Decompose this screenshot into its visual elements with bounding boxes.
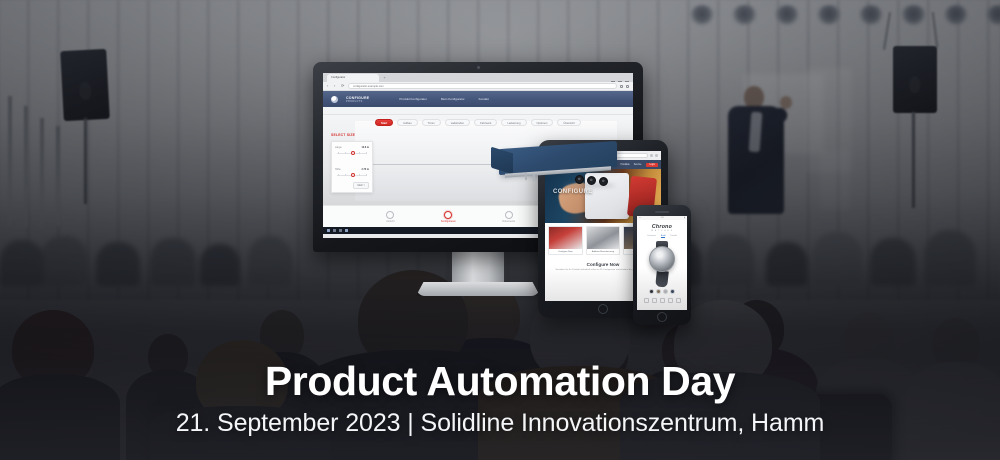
browser-icon[interactable] xyxy=(345,229,348,232)
toolbar-action-ansicht[interactable]: Ansicht xyxy=(386,211,394,223)
save-icon[interactable] xyxy=(668,298,673,303)
slider-handle[interactable] xyxy=(351,173,355,177)
slider-tick xyxy=(366,152,367,154)
color-swatch[interactable] xyxy=(670,289,675,294)
nav-item[interactable]: Service xyxy=(634,164,642,166)
search-icon[interactable] xyxy=(333,229,336,232)
step-tab-aufbau[interactable]: Aufbau xyxy=(397,119,418,126)
step-tab-tueren[interactable]: Türen xyxy=(422,119,441,126)
tab-overview[interactable]: Overview xyxy=(647,235,656,238)
card-image xyxy=(587,227,620,249)
step-tab-ladeboden[interactable]: Ladeboden xyxy=(445,119,470,126)
forward-arrow-icon[interactable]: › xyxy=(334,84,338,88)
tab-build[interactable]: Build xyxy=(661,235,666,238)
phone-screen: ••• 9:41 ▮ Chrono W A T C H E S Overview… xyxy=(637,216,687,310)
brand-logo-text: CONFIGURE PRODUCTS xyxy=(346,96,369,103)
new-tab-button[interactable]: + xyxy=(381,74,388,82)
banner-caption: Product Automation Day 21. September 202… xyxy=(0,357,1000,438)
brand-logo-icon xyxy=(331,96,338,103)
webcam-icon xyxy=(477,66,480,69)
configurator-model-label: SELECT SIZE xyxy=(331,133,355,137)
site-nav: Produkt Konfigurator Mein Konfigurator K… xyxy=(399,97,488,101)
step-tab-start[interactable]: Start xyxy=(375,119,393,126)
card-caption: Additive Manufacturing xyxy=(587,249,620,254)
zoom-icon[interactable] xyxy=(652,298,657,303)
option-value: 13.6 m xyxy=(362,146,369,149)
tab-details[interactable]: Details xyxy=(670,235,676,238)
monitor-stand-neck xyxy=(452,250,504,286)
trailer-landing-leg xyxy=(525,173,527,180)
option-row: Höhe 2.70 m xyxy=(335,168,369,177)
window-controls[interactable] xyxy=(611,81,633,82)
trailer-3d-model[interactable] xyxy=(489,145,619,189)
signal-icon: ••• xyxy=(639,217,641,219)
folder-icon[interactable] xyxy=(339,229,342,232)
configurator-step-tabs: Start Aufbau Türen Ladeboden Fahrwerk La… xyxy=(375,119,581,126)
step-tab-lackierung[interactable]: Lackierung xyxy=(501,119,526,126)
nav-item[interactable]: Produkte xyxy=(621,164,630,166)
color-icon[interactable] xyxy=(660,298,665,303)
phone-brand-block: Chrono W A T C H E S xyxy=(637,220,687,234)
phone-home-button[interactable] xyxy=(657,312,667,322)
phone-action-bar xyxy=(637,296,687,306)
event-subtitle: 21. September 2023 | Solidline Innovatio… xyxy=(0,409,1000,438)
option-slider[interactable] xyxy=(335,173,369,177)
slider-tick xyxy=(345,152,346,154)
slider-handle[interactable] xyxy=(351,151,355,155)
trailer-wheel xyxy=(599,177,608,186)
tabs-icon[interactable] xyxy=(655,154,658,157)
step-tab-optionen[interactable]: Optionen xyxy=(531,119,554,126)
color-swatch-row xyxy=(637,287,687,296)
color-swatch[interactable] xyxy=(663,289,668,294)
earpiece-speaker xyxy=(655,211,669,213)
close-icon[interactable] xyxy=(625,81,629,82)
monitor-stand-base xyxy=(416,282,540,296)
share-icon[interactable] xyxy=(650,154,653,157)
color-swatch[interactable] xyxy=(656,289,661,294)
minimize-icon[interactable] xyxy=(611,81,615,82)
option-header: Länge 13.6 m xyxy=(335,146,369,149)
start-icon[interactable] xyxy=(327,229,330,232)
card-caption: Configure Now xyxy=(549,249,582,254)
trailer-landing-leg xyxy=(533,174,535,181)
option-label: Höhe xyxy=(335,168,341,171)
page-title: Product Automation Day xyxy=(0,357,1000,405)
card-image xyxy=(549,227,582,249)
step-tab-uebersicht[interactable]: Übersicht xyxy=(557,119,580,126)
nav-item[interactable]: Kontakt xyxy=(479,97,489,101)
star-icon[interactable] xyxy=(620,85,623,88)
browser-tab[interactable]: Configurator xyxy=(327,74,379,82)
maximize-icon[interactable] xyxy=(618,81,622,82)
watch-strap-bottom xyxy=(655,270,669,287)
gear-icon xyxy=(444,211,452,219)
tablet-card[interactable]: Configure Now xyxy=(548,226,583,255)
tablet-login-button[interactable]: Login xyxy=(646,163,658,167)
site-subheader xyxy=(323,107,633,115)
event-banner: Configurator + ‹ › ⟳ configurator.exampl… xyxy=(0,0,1000,460)
step-tab-fahrwerk[interactable]: Fahrwerk xyxy=(474,119,497,126)
browser-address-bar: ‹ › ⟳ configurator.example.com xyxy=(323,82,633,91)
configurator-options-panel: Länge 13.6 m xyxy=(331,141,373,193)
hero-headline: CONFIGURE xyxy=(553,189,593,195)
more-options-button[interactable]: Mehr > xyxy=(353,182,369,189)
option-row: Länge 13.6 m xyxy=(335,146,369,155)
browser-tab-strip: Configurator + xyxy=(323,73,633,82)
trailer-wheel xyxy=(587,176,596,185)
watch-face xyxy=(649,246,675,272)
url-input[interactable]: configurator.example.com xyxy=(348,83,617,89)
nav-item[interactable]: Mein Konfigurator xyxy=(441,97,465,101)
toolbar-label: Dokumente xyxy=(502,220,515,223)
spacer xyxy=(335,158,369,168)
device-mockup-cluster: Configurator + ‹ › ⟳ configurator.exampl… xyxy=(0,0,1000,330)
slider-tick xyxy=(338,174,339,176)
slider-tick xyxy=(366,174,367,176)
option-slider[interactable] xyxy=(335,151,369,155)
nav-item[interactable]: Produkt Konfigurator xyxy=(399,97,427,101)
brand-slogan: W A T C H E S xyxy=(637,230,687,232)
toolbar-action-konfigurieren[interactable]: Konfigurieren xyxy=(441,211,456,223)
status-time: 9:41 xyxy=(661,217,665,219)
trailer-wheel xyxy=(575,175,584,184)
share-icon[interactable] xyxy=(676,298,681,303)
smartphone-mockup: ••• 9:41 ▮ Chrono W A T C H E S Overview… xyxy=(633,205,691,325)
kebab-menu-icon[interactable] xyxy=(626,85,629,88)
battery-icon: ▮ xyxy=(684,217,685,219)
site-header: CONFIGURE PRODUCTS Produkt Konfigurator … xyxy=(323,91,633,107)
option-header: Höhe 2.70 m xyxy=(335,168,369,171)
toolbar-action-dokumente[interactable]: Dokumente xyxy=(502,211,515,223)
slider-tick xyxy=(345,174,346,176)
slider-tick xyxy=(359,152,360,154)
rotate-icon[interactable] xyxy=(644,298,649,303)
tablet-card[interactable]: Additive Manufacturing xyxy=(586,226,621,255)
toolbar-label: Ansicht xyxy=(386,220,394,223)
reload-icon[interactable]: ⟳ xyxy=(341,84,345,88)
phone-tab-bar: Overview Build Details xyxy=(637,234,687,241)
color-swatch[interactable] xyxy=(649,289,654,294)
option-value: 2.70 m xyxy=(362,168,369,171)
browser-actions[interactable] xyxy=(620,85,629,88)
back-arrow-icon[interactable]: ‹ xyxy=(327,84,331,88)
slider-tick xyxy=(359,174,360,176)
eye-icon xyxy=(386,211,394,219)
slider-tick xyxy=(338,152,339,154)
home-button[interactable] xyxy=(598,304,608,314)
watch-3d-model[interactable] xyxy=(637,241,687,287)
document-icon xyxy=(505,211,513,219)
option-label: Länge xyxy=(335,146,342,149)
toolbar-label: Konfigurieren xyxy=(441,220,456,223)
